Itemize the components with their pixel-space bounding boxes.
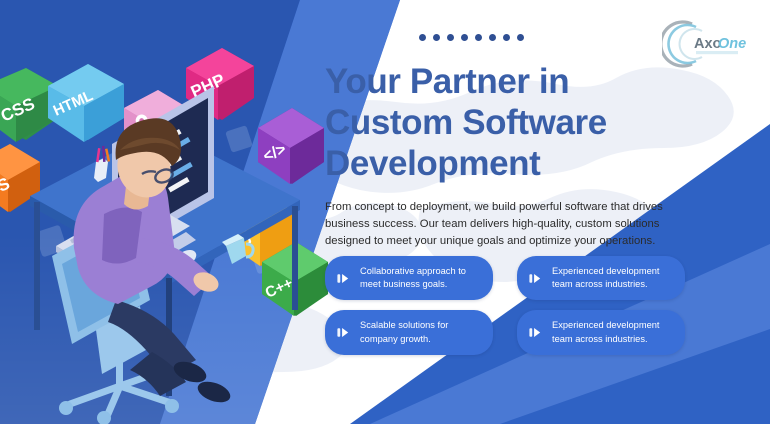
dot-decoration xyxy=(419,34,524,41)
headline-line-3: Development xyxy=(325,144,540,183)
hero-banner: CSS HTML PHP xyxy=(0,0,770,424)
feature-card[interactable]: Experienced development team across indu… xyxy=(517,256,685,300)
feature-card-label: Scalable solutions for company growth. xyxy=(360,319,482,345)
feature-card-label: Collaborative approach to meet business … xyxy=(360,265,482,291)
logo-text-secondary: One xyxy=(718,36,746,52)
tile-code-brackets: </> xyxy=(258,108,324,184)
feature-card[interactable]: Experienced development team across indu… xyxy=(517,310,685,354)
developer-illustration: CSS HTML PHP xyxy=(0,0,330,424)
play-arrow-icon xyxy=(528,271,543,286)
logo-tagline-bar xyxy=(696,51,738,54)
page-title: Your Partner in Custom Software Developm… xyxy=(325,62,703,185)
feature-card-label: Experienced development team across indu… xyxy=(552,265,674,291)
feature-card-label: Experienced development team across indu… xyxy=(552,319,674,345)
feature-card[interactable]: Collaborative approach to meet business … xyxy=(325,256,493,300)
headline-line-2: Custom Software xyxy=(325,103,607,142)
feature-card-list: Collaborative approach to meet business … xyxy=(325,256,685,355)
hero-content: Your Partner in Custom Software Developm… xyxy=(325,62,703,250)
play-arrow-icon xyxy=(336,325,351,340)
play-arrow-icon xyxy=(336,271,351,286)
tile-html: HTML xyxy=(48,64,124,142)
hero-subcopy: From concept to deployment, we build pow… xyxy=(325,199,703,250)
feature-card[interactable]: Scalable solutions for company growth. xyxy=(325,310,493,354)
play-arrow-icon xyxy=(528,325,543,340)
headline-line-1: Your Partner in xyxy=(325,62,569,101)
